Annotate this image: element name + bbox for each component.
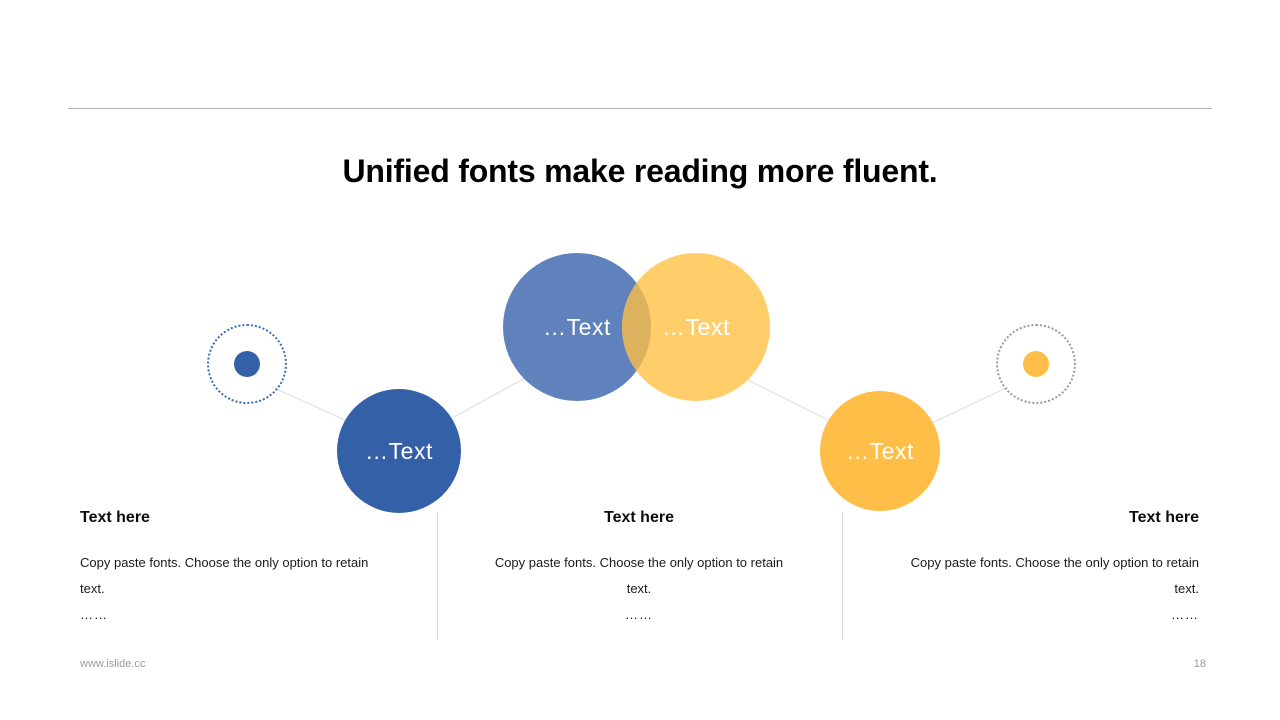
circle-node-label: …Text	[846, 438, 914, 465]
column-ellipsis: ……	[843, 602, 1199, 628]
circle-node-label: …Text	[543, 314, 611, 341]
footer-page-number: 18	[1194, 658, 1206, 670]
circle-node-yellow-light: …Text	[622, 253, 770, 401]
column-body-text: Copy paste fonts. Choose the only option…	[899, 550, 1199, 602]
satellite-node-left	[207, 324, 287, 404]
dot-icon-blue	[234, 351, 260, 377]
column-heading: Text here	[80, 508, 436, 528]
header-divider-rule	[68, 108, 1212, 109]
text-column-2: Text here Copy paste fonts. Choose the o…	[461, 508, 817, 628]
circle-node-yellow-light-label-overlay: …Text	[622, 253, 770, 401]
slide-canvas: Unified fonts make reading more fluent. …	[0, 0, 1280, 720]
text-columns: Text here Copy paste fonts. Choose the o…	[0, 508, 1280, 648]
circle-node-label: …Text	[365, 438, 433, 465]
column-body-text: Copy paste fonts. Choose the only option…	[80, 550, 380, 602]
text-column-3: Text here Copy paste fonts. Choose the o…	[843, 508, 1199, 628]
dot-icon-yellow	[1023, 351, 1049, 377]
column-heading: Text here	[843, 508, 1199, 528]
circle-node-orange: …Text	[820, 391, 940, 511]
circle-node-label: …Text	[662, 314, 730, 341]
circle-overlap-region	[622, 253, 770, 401]
page-title: Unified fonts make reading more fluent.	[0, 153, 1280, 190]
column-body-text: Copy paste fonts. Choose the only option…	[489, 550, 789, 602]
satellite-node-right	[996, 324, 1076, 404]
column-ellipsis: ……	[80, 602, 436, 628]
circle-node-blue-dark: …Text	[337, 389, 461, 513]
footer-url[interactable]: www.islide.cc	[80, 658, 145, 670]
column-heading: Text here	[461, 508, 817, 528]
circle-node-label: …Text	[662, 314, 730, 341]
text-column-1: Text here Copy paste fonts. Choose the o…	[80, 508, 436, 628]
circle-node-blue-light: …Text	[503, 253, 651, 401]
column-ellipsis: ……	[461, 602, 817, 628]
